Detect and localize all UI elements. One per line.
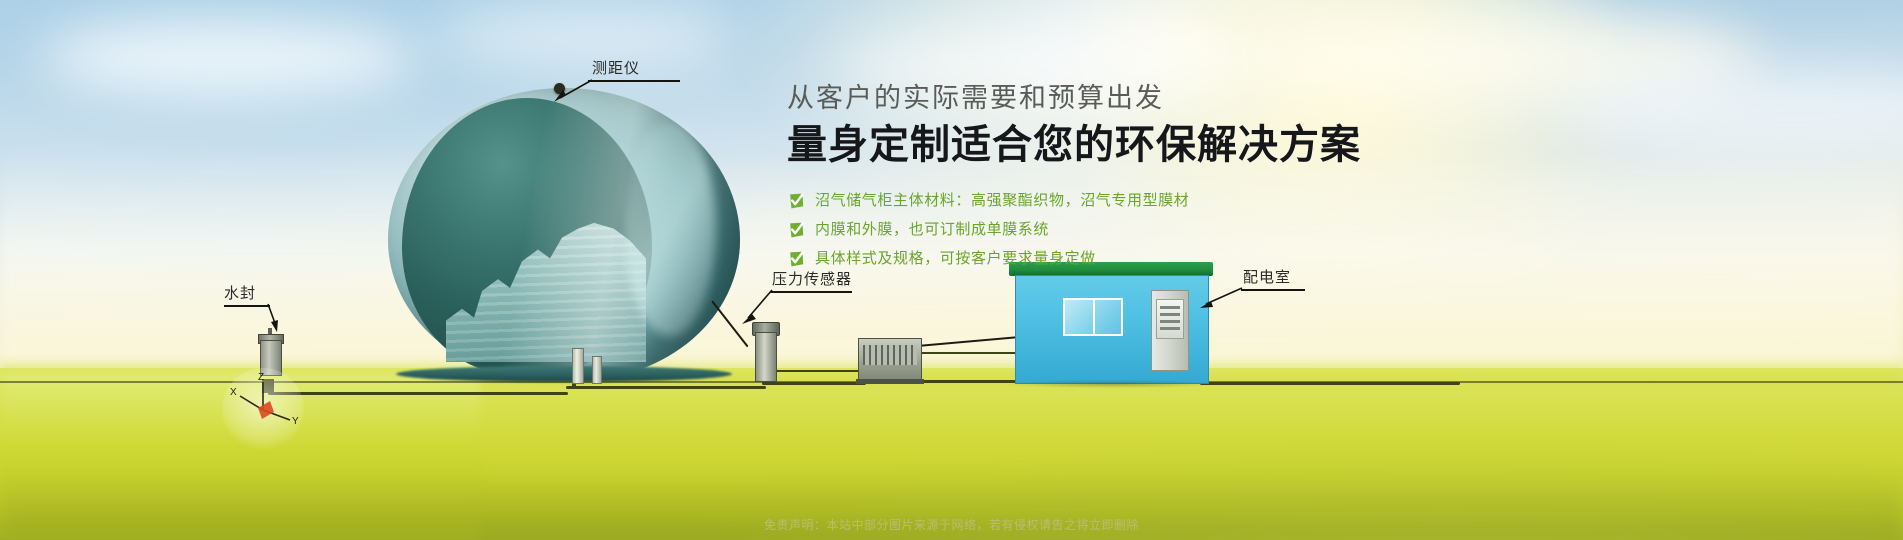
pressure-sensor-body (755, 332, 777, 382)
dome-highlight (624, 122, 716, 336)
building-shadow (1005, 380, 1219, 388)
check-badge-icon (787, 221, 806, 240)
vent-pipe (592, 356, 602, 384)
feature-text: 内膜和外膜，也可订制成单膜系统 (815, 221, 1049, 239)
svg-text:X: X (230, 387, 237, 398)
check-badge-icon (787, 192, 806, 211)
axis-icon: Z Y X (222, 368, 304, 450)
feature-text: 具体样式及规格，可按客户要求量身定做 (815, 250, 1096, 268)
promo-copy-block: 从客户的实际需要和预算出发 量身定制适合您的环保解决方案 沼气储气柜主体材料：高… (787, 80, 1427, 279)
promo-headline: 量身定制适合您的环保解决方案 (787, 120, 1427, 171)
pipe-segment (268, 392, 568, 395)
list-item: 具体样式及规格，可按客户要求量身定做 (787, 250, 1427, 269)
building-door (1151, 290, 1189, 371)
label-water-seal: 水封 (224, 282, 256, 303)
feature-text: 沼气储气柜主体材料：高强聚酯织物，沼气专用型膜材 (815, 192, 1189, 210)
vent-pipe (572, 348, 584, 384)
promo-banner: Z Y X 测距仪 水封 压力传感器 配电室 从客户的实际需要和预算出发 量身定… (0, 0, 1903, 540)
leader-arrow-water-seal (256, 300, 282, 334)
pipe-segment (566, 386, 766, 389)
control-panel-icon (1156, 299, 1184, 339)
leader-line-power-room (1241, 289, 1305, 291)
cloud (430, 6, 730, 68)
pressure-sensor-unit (752, 318, 778, 382)
leader-arrow-rangefinder (552, 78, 596, 104)
building-window (1063, 298, 1123, 336)
axis-orientation-widget: Z Y X (222, 368, 304, 450)
blower-unit (858, 338, 922, 384)
blower-grill (863, 345, 917, 365)
promo-subheadline: 从客户的实际需要和预算出发 (787, 80, 1427, 116)
promo-feature-list: 沼气储气柜主体材料：高强聚酯织物，沼气专用型膜材 内膜和外膜，也可订制成单膜系统 (787, 192, 1427, 269)
pipe-segment (764, 370, 860, 372)
svg-text:Y: Y (292, 416, 299, 427)
list-item: 内膜和外膜，也可订制成单膜系统 (787, 221, 1427, 240)
power-distribution-room-building (1015, 262, 1207, 382)
leader-line-rangefinder (588, 80, 680, 82)
leader-arrow-pressure-sensor (736, 288, 780, 326)
pipe-segment (916, 352, 1026, 354)
disclaimer-text: 免责声明：本站中部分图片来源于网络，若有侵权请告之将立即删除 (0, 516, 1903, 533)
leader-line-pressure-sensor (770, 291, 852, 293)
dome-base-ring (396, 366, 732, 382)
leader-arrow-power-room (1196, 286, 1246, 312)
svg-text:Z: Z (258, 372, 264, 383)
pipe-segment (762, 382, 866, 385)
cloud (40, 18, 420, 98)
blower-base (856, 379, 924, 384)
pipe-segment (1200, 382, 1460, 385)
biogas-dome (388, 88, 740, 380)
list-item: 沼气储气柜主体材料：高强聚酯织物，沼气专用型膜材 (787, 192, 1427, 211)
check-badge-icon (787, 250, 806, 269)
label-rangefinder: 测距仪 (592, 57, 640, 78)
